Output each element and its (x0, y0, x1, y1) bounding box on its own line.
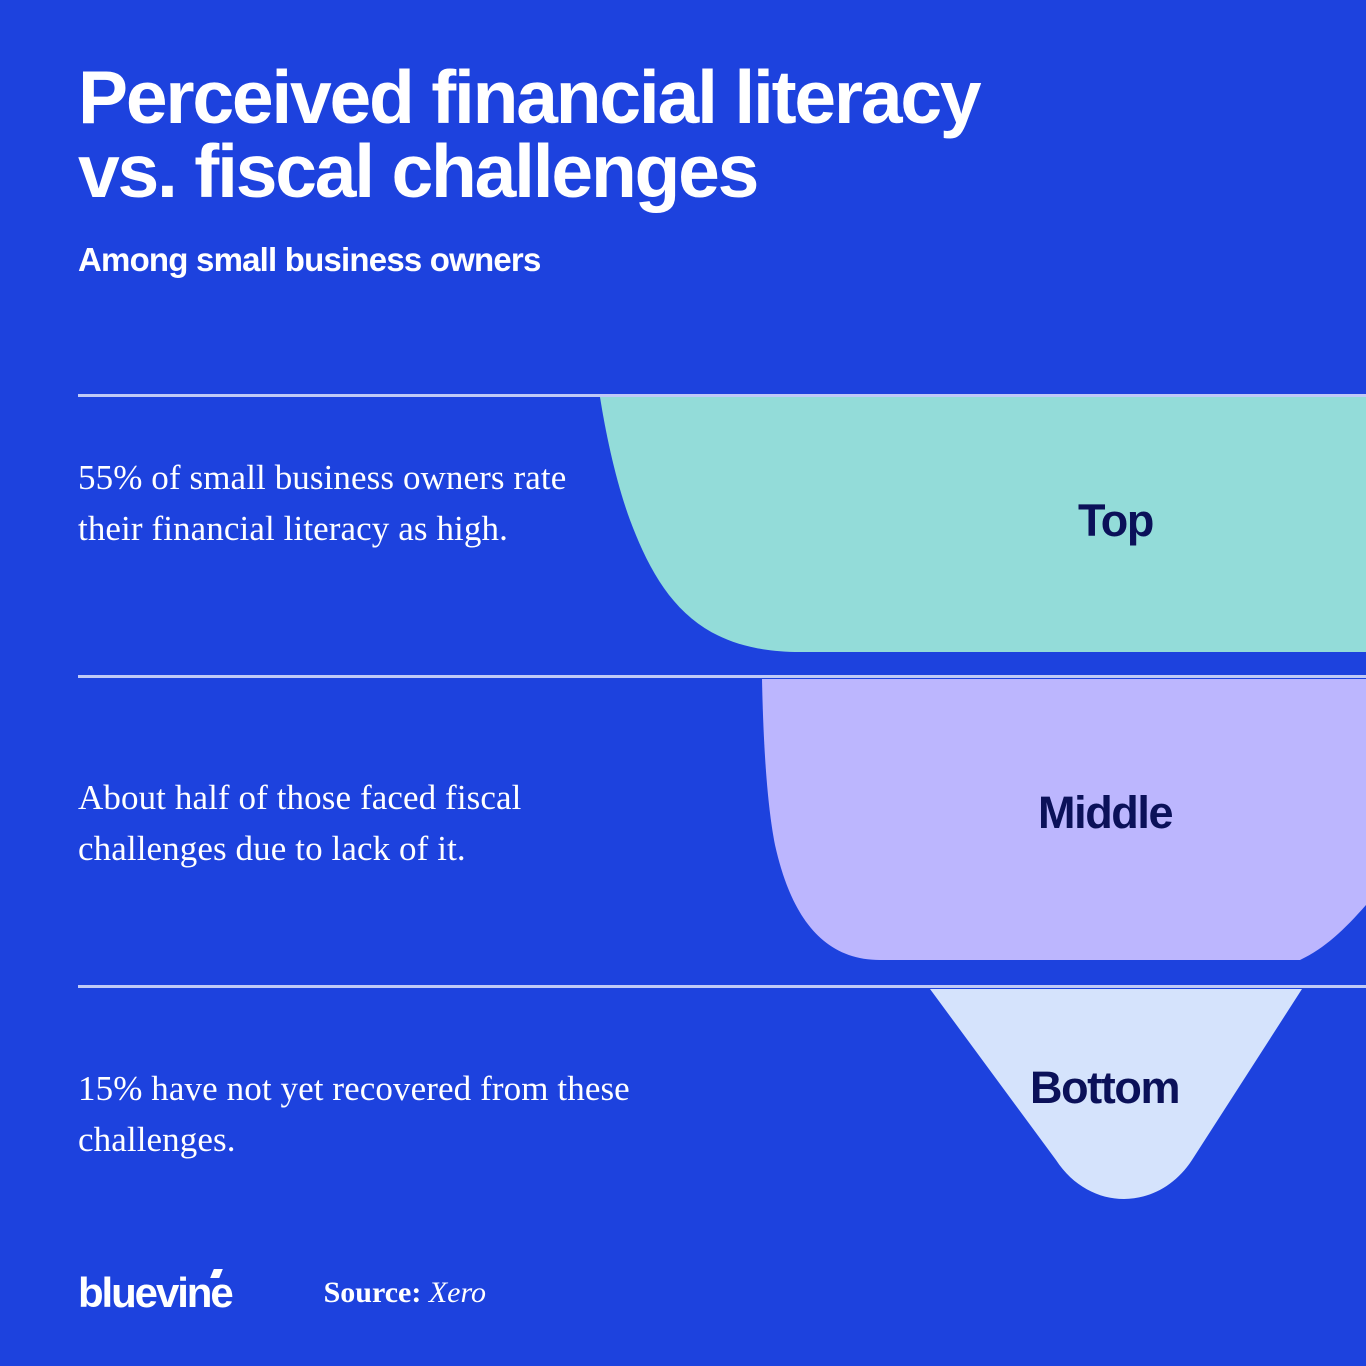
stage-caption-top: 55% of small business owners rate their … (78, 452, 588, 554)
page-subtitle: Among small business owners (78, 241, 1118, 279)
page-title: Perceived financial literacy vs. fiscal … (78, 60, 1118, 209)
page-title-line-2: vs. fiscal challenges (78, 129, 757, 213)
stage-label-middle: Middle (1038, 787, 1172, 839)
source-value: Xero (429, 1276, 486, 1309)
bluevine-logo-text: bluevine (78, 1269, 232, 1316)
source-label: Source: (324, 1276, 422, 1309)
footer: bluevine Source: Xero (78, 1272, 486, 1314)
stage-caption-bottom: 15% have not yet recovered from these ch… (78, 1063, 688, 1165)
header: Perceived financial literacy vs. fiscal … (78, 60, 1118, 279)
bluevine-logo: bluevine (78, 1272, 232, 1314)
funnel-segment-top (600, 397, 1366, 652)
divider-rule-bottom (78, 985, 1366, 988)
divider-rule-top (78, 394, 1366, 397)
page-title-line-1: Perceived financial literacy (78, 55, 979, 139)
stage-label-bottom: Bottom (1030, 1062, 1179, 1114)
stage-caption-middle: About half of those faced fiscal challen… (78, 772, 658, 874)
infographic-root: Perceived financial literacy vs. fiscal … (0, 0, 1366, 1366)
source-attribution: Source: Xero (324, 1276, 486, 1310)
stage-label-top: Top (1078, 495, 1153, 547)
divider-rule-middle (78, 675, 1366, 678)
